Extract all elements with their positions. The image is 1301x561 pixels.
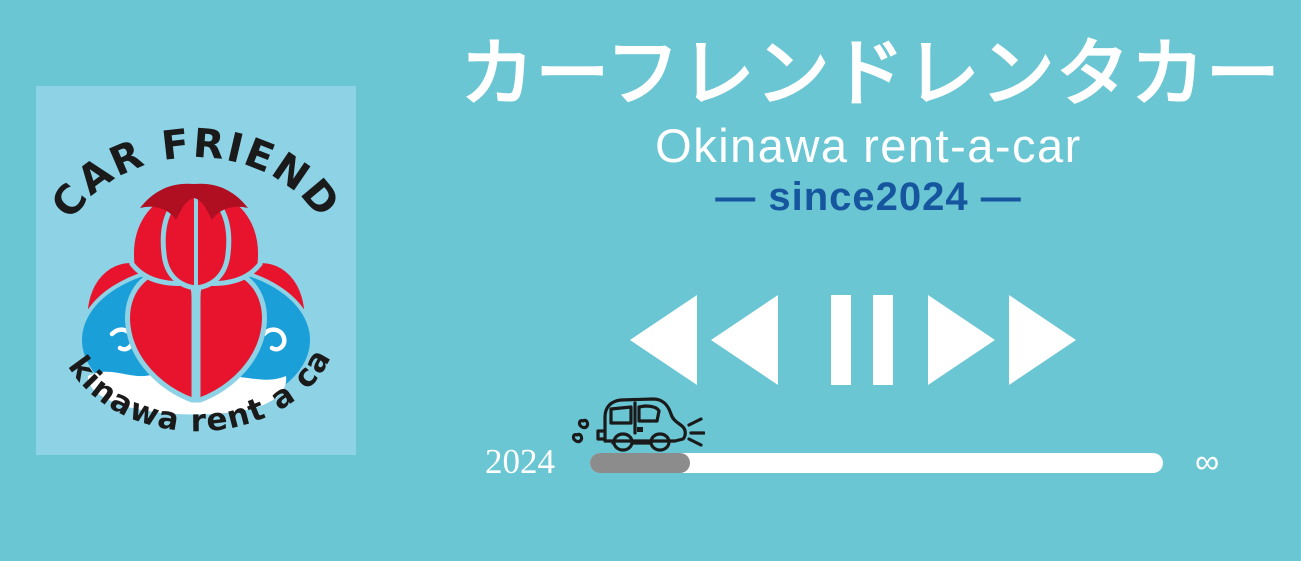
media-controls [610, 295, 1110, 385]
headline-block: カーフレンドレンタカー Okinawa rent-a-car — since20… [430, 36, 1301, 219]
timeline-start-label: 2024 [485, 442, 555, 482]
car-friend-logo-emblem: CAR FRIEND Okinawa rent a car [36, 86, 356, 455]
fast-forward-button-inner[interactable] [928, 295, 995, 385]
pause-icon-bar-left [831, 295, 851, 385]
fast-forward-icon [928, 295, 995, 385]
brand-since-line: — since2024 — [430, 175, 1301, 219]
car-friend-logo-panel: CAR FRIEND Okinawa rent a car [36, 86, 356, 455]
rewind-button-inner[interactable] [711, 295, 778, 385]
pause-button[interactable] [831, 295, 893, 385]
pause-icon-bar-right [873, 295, 893, 385]
timeline: 2024 ∞ [470, 440, 1270, 490]
fast-forward-icon [1009, 295, 1076, 385]
rewind-button-outer[interactable] [630, 295, 697, 385]
timeline-end-label: ∞ [1195, 442, 1219, 482]
progress-track[interactable] [590, 453, 1163, 473]
brand-subtitle-english: Okinawa rent-a-car [430, 120, 1301, 172]
rewind-icon [630, 295, 697, 385]
fast-forward-button-outer[interactable] [1009, 295, 1076, 385]
progress-fill [590, 453, 690, 473]
brand-title-japanese: カーフレンドレンタカー [430, 36, 1301, 114]
promo-banner: CAR FRIEND Okinawa rent a car カーフレンドレンタカ… [0, 0, 1301, 561]
rewind-icon [711, 295, 778, 385]
